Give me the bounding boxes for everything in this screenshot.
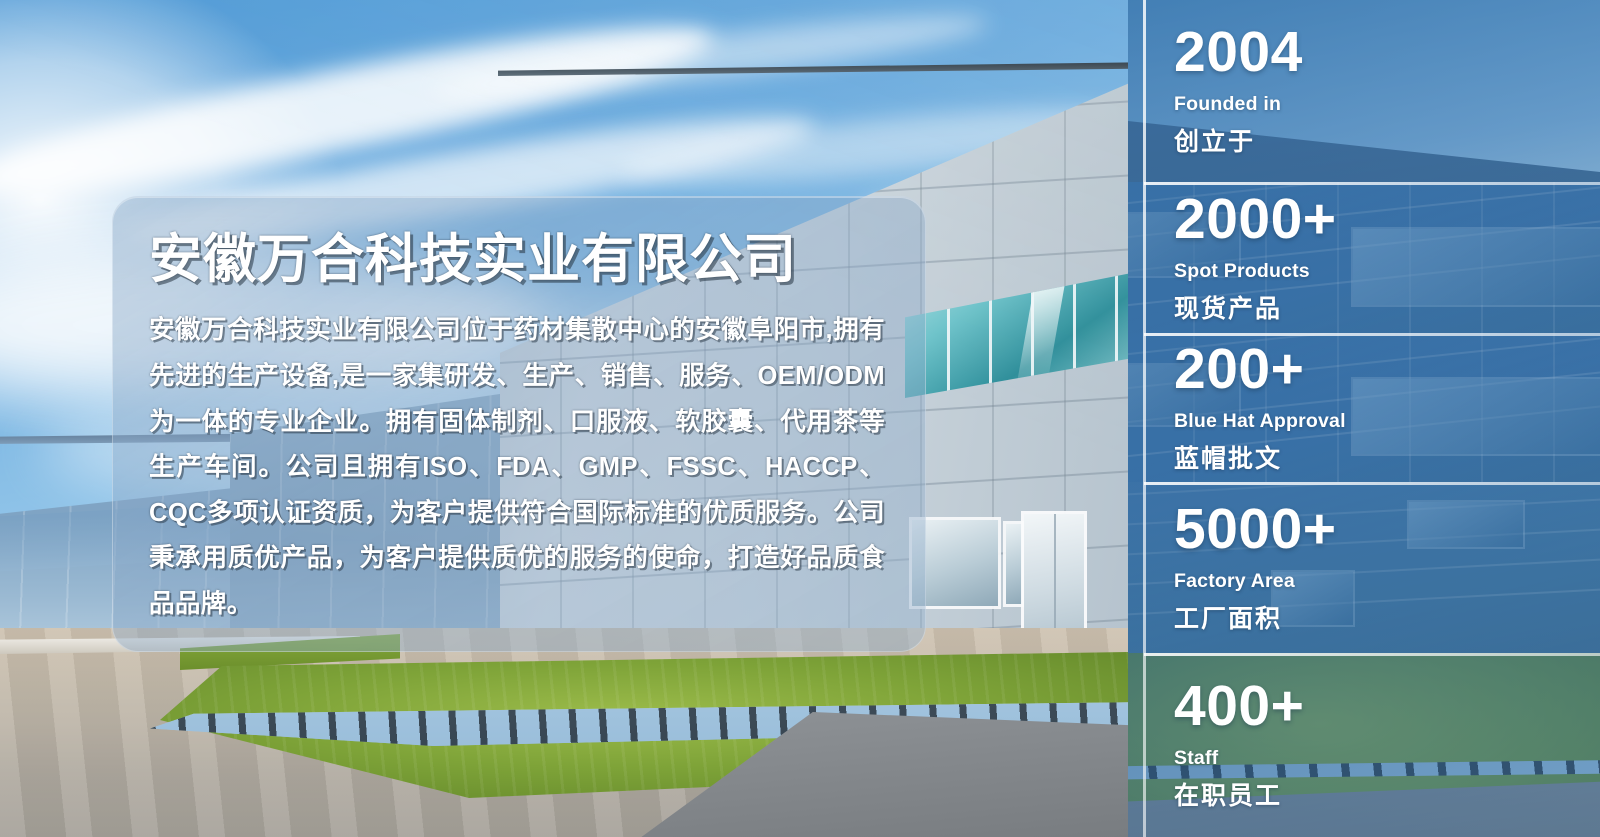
- stat-label-en: Founded in: [1174, 93, 1600, 116]
- stat-item-1[interactable]: 2004Founded in创立于: [1128, 0, 1600, 182]
- company-description: 安徽万合科技实业有限公司位于药材集散中心的安徽阜阳市,拥有先进的生产设备,是一家…: [149, 308, 885, 627]
- stat-label-zh: 蓝帽批文: [1174, 439, 1600, 475]
- stat-value: 2004: [1174, 24, 1600, 81]
- stat-divider: [1144, 482, 1600, 485]
- statistics-panel: 2004Founded in创立于2000+Spot Products现货产品2…: [1128, 0, 1600, 837]
- panel-left-border: [1143, 0, 1146, 837]
- stat-label-zh: 在职员工: [1174, 776, 1600, 812]
- company-intro-card: 安徽万合科技实业有限公司 安徽万合科技实业有限公司位于药材集散中心的安徽阜阳市,…: [112, 196, 926, 652]
- stat-value: 200+: [1174, 341, 1600, 398]
- stat-label-zh: 工厂面积: [1174, 599, 1600, 635]
- company-profile-banner: 安徽万合科技实业有限公司 安徽万合科技实业有限公司位于药材集散中心的安徽阜阳市,…: [0, 0, 1600, 837]
- stat-divider: [1144, 182, 1600, 185]
- stat-divider: [1144, 653, 1600, 656]
- stat-item-2[interactable]: 2000+Spot Products现货产品: [1128, 182, 1600, 333]
- stat-item-5[interactable]: 400+Staff在职员工: [1128, 653, 1600, 837]
- stat-value: 2000+: [1174, 191, 1600, 248]
- stat-label-en: Spot Products: [1174, 260, 1600, 283]
- stat-label-en: Staff: [1174, 747, 1600, 770]
- stat-value: 5000+: [1174, 501, 1600, 558]
- stat-label-zh: 创立于: [1174, 122, 1600, 158]
- stat-label-zh: 现货产品: [1174, 289, 1600, 325]
- stat-item-3[interactable]: 200+Blue Hat Approval蓝帽批文: [1128, 333, 1600, 482]
- stat-label-en: Blue Hat Approval: [1174, 410, 1600, 433]
- stat-divider: [1144, 333, 1600, 336]
- stat-label-en: Factory Area: [1174, 570, 1600, 593]
- stat-value: 400+: [1174, 678, 1600, 735]
- page-title: 安徽万合科技实业有限公司: [149, 231, 885, 288]
- stat-item-4[interactable]: 5000+Factory Area工厂面积: [1128, 482, 1600, 653]
